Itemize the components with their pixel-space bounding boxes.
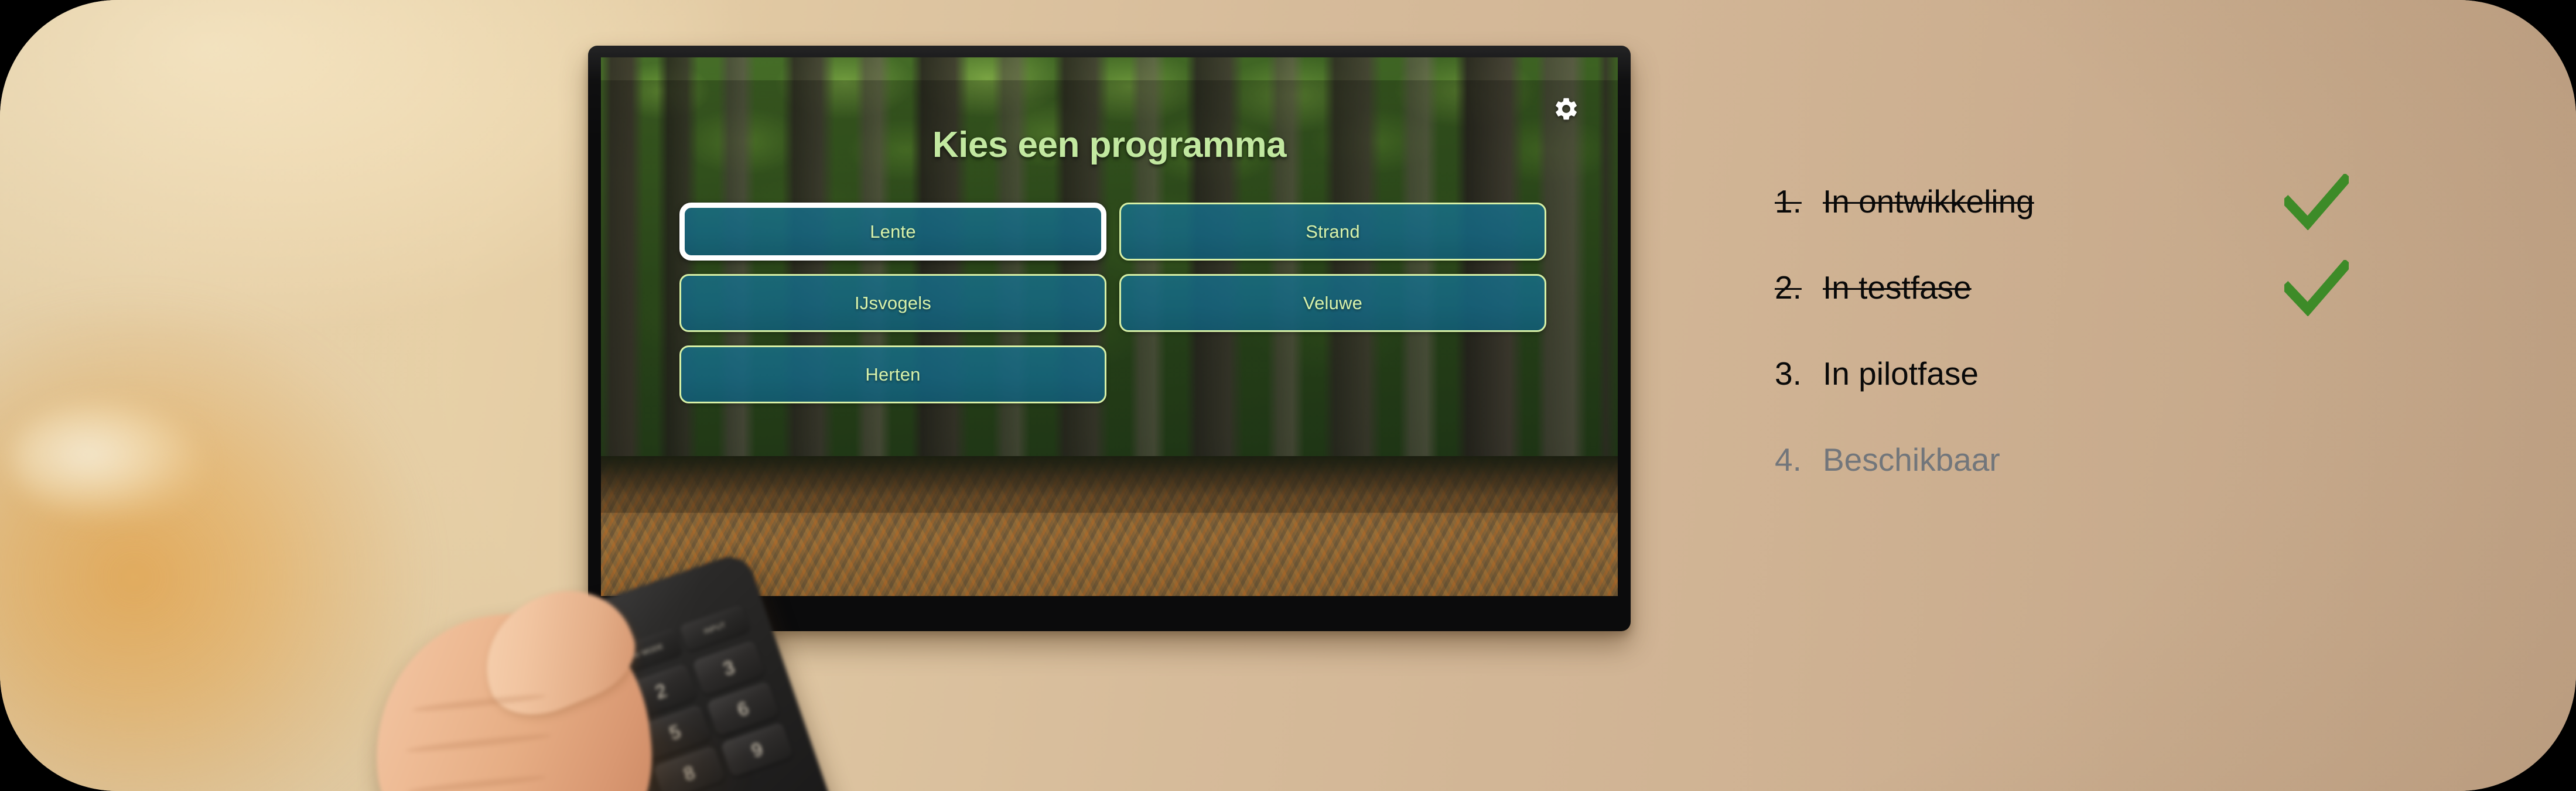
gear-icon: [1553, 95, 1580, 122]
roadmap-item-number: 2.: [1775, 272, 1823, 304]
roadmap-item-label: In pilotfase: [1823, 358, 1979, 390]
program-tile-strand[interactable]: Strand: [1119, 203, 1546, 261]
check-icon: [2284, 174, 2349, 230]
tv-screen: Kies een programma Lente Strand IJsvogel…: [601, 57, 1618, 596]
roadmap-item-text: 4.Beschikbaar: [1775, 444, 2000, 476]
check-icon: [2284, 260, 2349, 316]
roadmap-status-list: 1.In ontwikkeling 2.In testfase 3.In pil…: [1775, 186, 2431, 475]
scene-canvas: Kies een programma Lente Strand IJsvogel…: [0, 0, 2576, 791]
roadmap-item-text: 2.In testfase: [1775, 272, 1972, 304]
roadmap-item-2: 2.In testfase: [1775, 272, 2431, 303]
program-tile-veluwe[interactable]: Veluwe: [1119, 274, 1546, 332]
roadmap-item-1: 1.In ontwikkeling: [1775, 186, 2431, 217]
program-tile-grid: Lente Strand IJsvogels Veluwe Herten: [679, 203, 1546, 403]
roadmap-item-4: 4.Beschikbaar: [1775, 444, 2431, 475]
knuckle-crease: [406, 773, 547, 791]
roadmap-item-number: 1.: [1775, 186, 1823, 218]
program-tile-ijsvogels[interactable]: IJsvogels: [679, 274, 1106, 332]
knuckle-crease: [405, 732, 552, 754]
program-tile-label: Herten: [865, 364, 920, 385]
roadmap-item-3: 3.In pilotfase: [1775, 358, 2431, 389]
roadmap-item-number: 3.: [1775, 358, 1823, 390]
roadmap-item-text: 1.In ontwikkeling: [1775, 186, 2034, 218]
program-tile-label: Veluwe: [1303, 293, 1362, 314]
television: Kies een programma Lente Strand IJsvogel…: [588, 46, 1631, 631]
program-tile-herten[interactable]: Herten: [679, 345, 1106, 403]
roadmap-item-text: 3.In pilotfase: [1775, 358, 1979, 390]
settings-gear-button[interactable]: [1551, 94, 1581, 124]
hand-holding-remote: RADIO AV MODE INPUT 1 2 3 4 5 6 7 8 9: [410, 545, 937, 791]
tv-ui-layer: Kies een programma Lente Strand IJsvogel…: [601, 57, 1618, 596]
roadmap-item-label: In ontwikkeling: [1823, 186, 2034, 218]
program-tile-label: IJsvogels: [855, 293, 931, 314]
screen-title: Kies een programma: [601, 124, 1618, 166]
program-tile-label: Lente: [870, 221, 916, 242]
program-tile-label: Strand: [1306, 221, 1360, 242]
roadmap-item-number: 4.: [1775, 444, 1823, 476]
roadmap-item-label: Beschikbaar: [1823, 444, 2000, 476]
roadmap-item-label: In testfase: [1823, 272, 1972, 304]
program-tile-lente[interactable]: Lente: [679, 203, 1106, 261]
